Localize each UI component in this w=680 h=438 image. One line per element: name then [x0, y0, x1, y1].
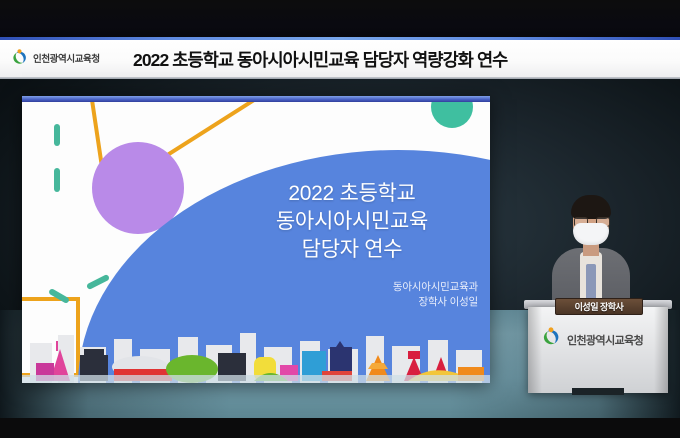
header-logo: 인천광역시교육청 [10, 48, 100, 67]
bottom-letterbox-bar [0, 418, 680, 438]
broadcast-screen: 인천광역시교육청 2022 초등학교 동아시아시민교육 담당자 역량강화 연수 [0, 0, 680, 438]
top-letterbox-bar [0, 0, 680, 38]
podium-base-notch [572, 388, 624, 395]
slide-canvas: 2022 초등학교 동아시아시민교육 담당자 연수 동아시아시민교육과 장학사 … [22, 102, 490, 383]
presentation-slide: 2022 초등학교 동아시아시민교육 담당자 연수 동아시아시민교육과 장학사 … [22, 96, 490, 383]
incheon-education-logo-icon [10, 48, 29, 67]
podium-organization-label: 인천광역시교육청 [567, 332, 643, 348]
teal-semicircle-decoration [431, 102, 473, 128]
speaker-person [552, 186, 630, 310]
page-title: 2022 초등학교 동아시아시민교육 담당자 역량강화 연수 [133, 47, 603, 72]
podium: 이성일 장학사 인천광역시교육청 [524, 300, 672, 396]
speaker-nameplate: 이성일 장학사 [555, 298, 643, 315]
city-skyline-illustration [22, 327, 490, 383]
slide-subtitle: 동아시아시민교육과 장학사 이성일 [222, 280, 486, 310]
speaker-hair [571, 195, 611, 219]
teal-dash-decoration [54, 168, 60, 192]
podium-logo: 인천광역시교육청 [540, 326, 643, 353]
speaker-nameplate-label: 이성일 장학사 [575, 300, 624, 313]
slide-title: 2022 초등학교 동아시아시민교육 담당자 연수 [218, 180, 486, 264]
teal-dash-decoration [54, 124, 60, 146]
header-organization-label: 인천광역시교육청 [33, 51, 100, 65]
face-mask-icon [573, 223, 609, 245]
podium-shade-right [654, 307, 668, 393]
incheon-education-logo-icon [540, 326, 562, 353]
